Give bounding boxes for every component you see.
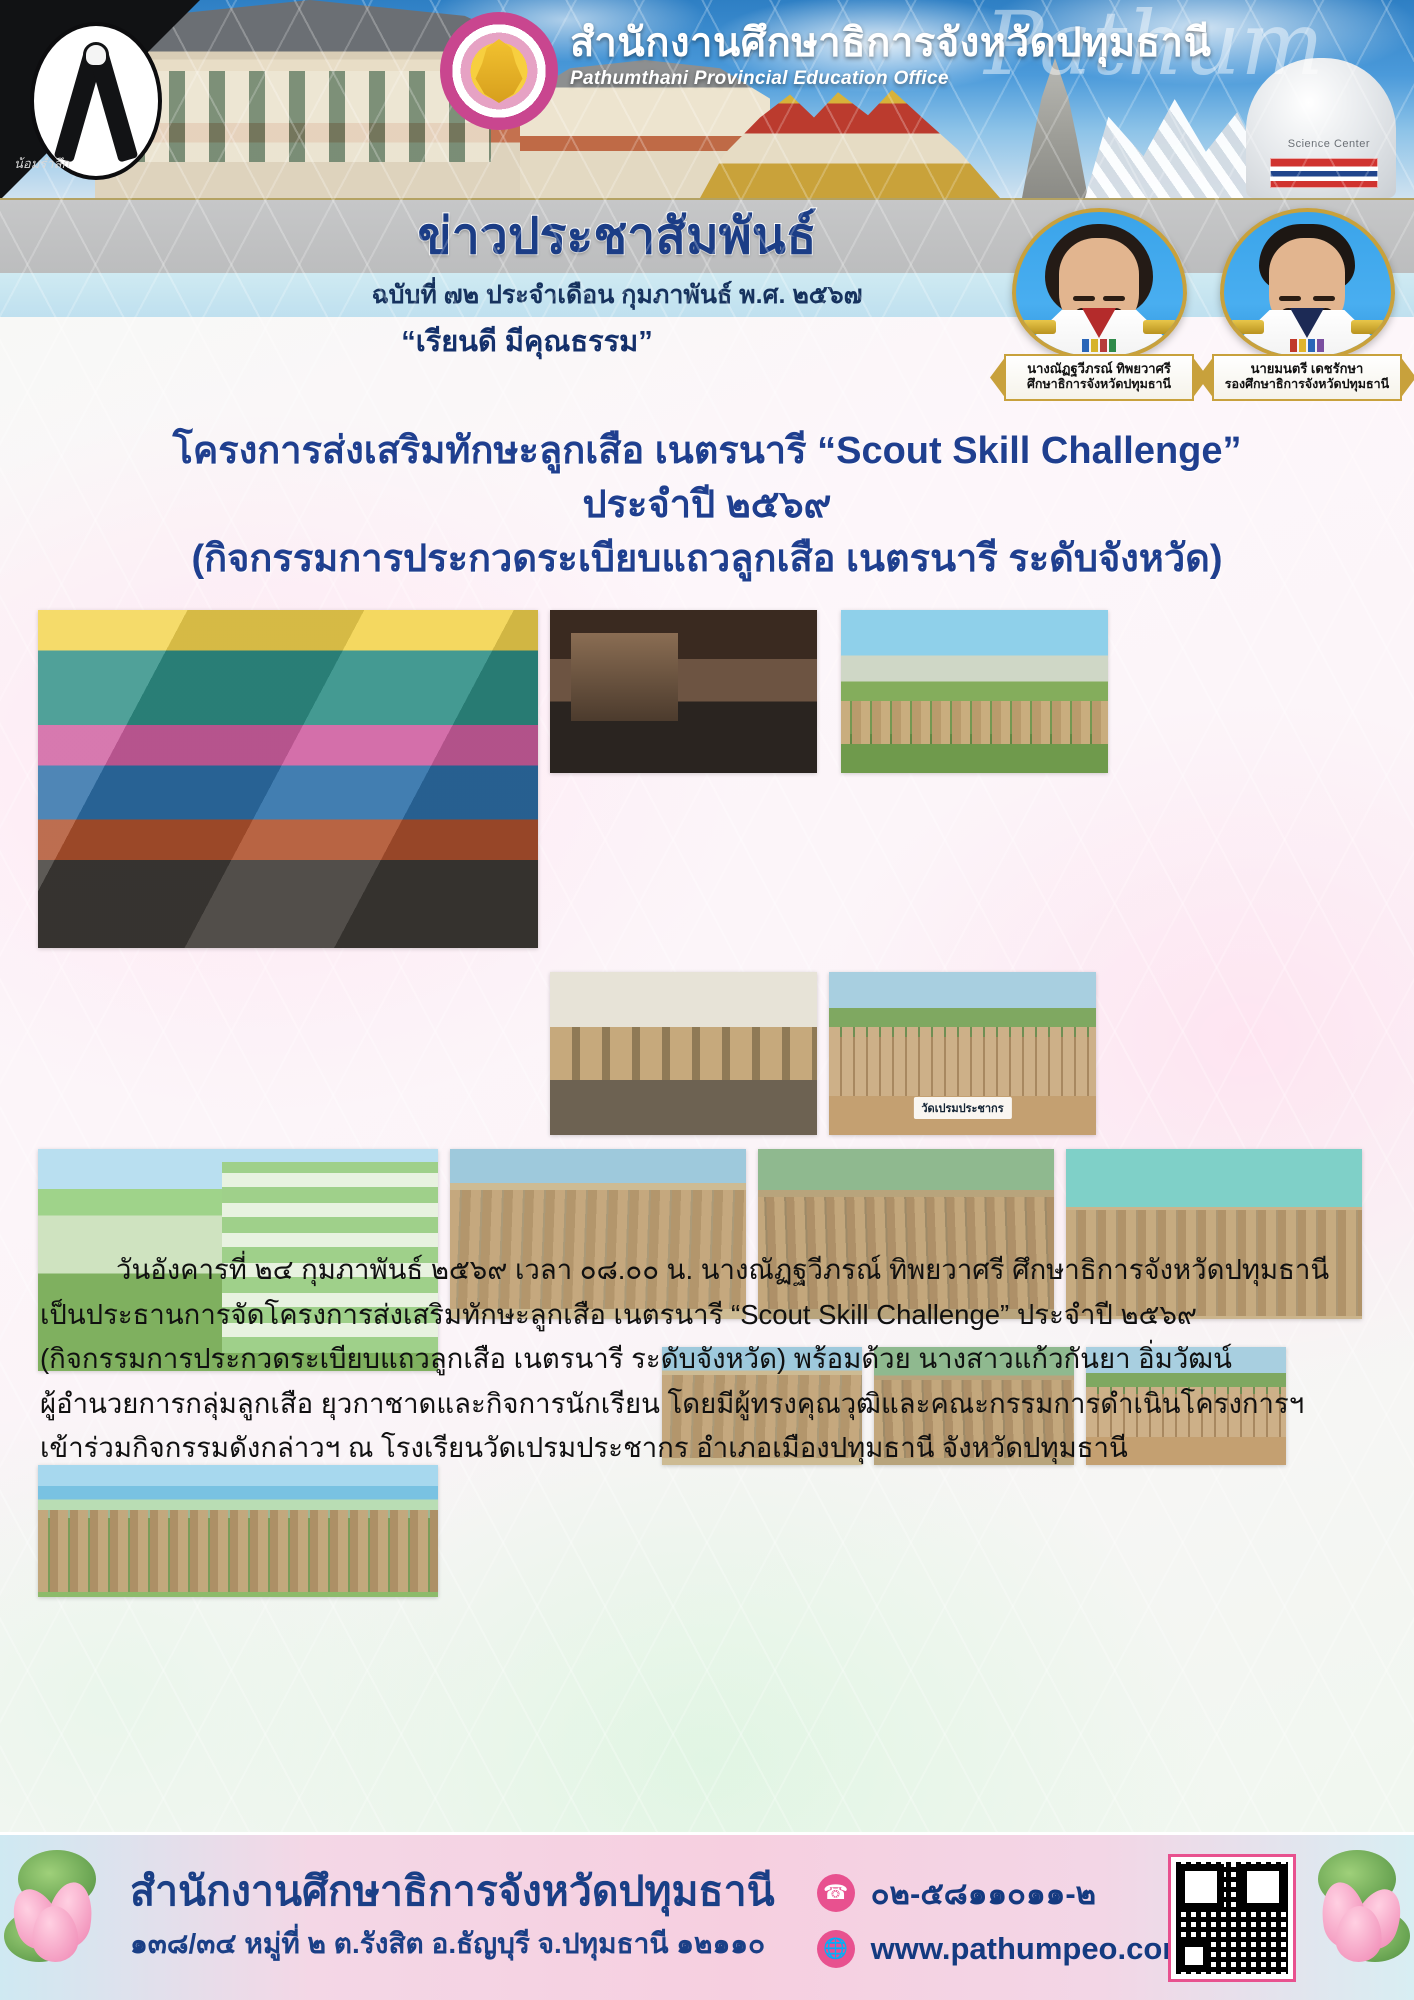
footer-org-name: สำนักงานศึกษาธิการจังหวัดปทุมธานี [130,1869,775,1915]
body-line-4: ผู้อำนวยการกลุ่มลูกเสือ ยุวกาชาดและกิจกา… [40,1382,1374,1427]
headline-line-2: ประจำปี ๒๕๖๙ [36,479,1378,533]
photo-field-green [38,1465,438,1597]
official-caption: นายมนตรี เดชรักษา รองศึกษาธิการจังหวัดปท… [1212,354,1402,401]
headline-line-1: โครงการส่งเสริมทักษะลูกเสือ เนตรนารี “Sc… [36,425,1378,479]
footer-website: www.pathumpeo.com [871,1931,1190,1967]
official-role: รองศึกษาธิการจังหวัดปทุมธานี [1220,377,1394,393]
photo-flag-bearers: วัดเปรมประชากร [829,972,1096,1135]
body-line-2: เป็นประธานการจัดโครงการส่งเสริมทักษะลูกเ… [40,1293,1374,1338]
org-title-group: สำนักงานศึกษาธิการจังหวัดปทุมธานี Pathum… [570,22,1211,90]
official-caption: นางณัฏฐวีภรณ์ ทิพยวาศรี ศึกษาธิการจังหวั… [1004,354,1194,401]
thai-flag-icon [1270,158,1378,188]
photo-office-desk [550,610,817,773]
body-line-5: เข้าร่วมกิจกรรมดังกล่าวฯ ณ โรงเรียนวัดเป… [40,1426,1374,1471]
photo-committee-table [550,972,817,1135]
lotus-decoration-left [0,1832,170,2000]
pr-title: ข่าวประชาสัมพันธ์ [418,197,817,276]
header-banner: Science Center Pathum สำนักงานศึกษาธิการ… [0,0,1414,198]
footer-address: ๑๓๘/๓๔ หมู่ที่ ๒ ต.รังสิต อ.ธัญบุรี จ.ปท… [130,1922,775,1966]
photo-stage-assembly [841,610,1108,773]
avatar [1220,208,1395,360]
photo-row-5 [38,1465,1376,1597]
official-card-director: นางณัฏฐวีภรณ์ ทิพยวาศรี ศึกษาธิการจังหวั… [1004,208,1194,401]
headline-line-3: (กิจกรรมการประกวดระเบียบแถวลูกเสือ เนตรน… [36,533,1378,587]
body-paragraph: วันอังคารที่ ๒๔ กุมภาพันธ์ ๒๕๖๙ เวลา ๐๘.… [0,1248,1414,1471]
body-line-3: (กิจกรรมการประกวดระเบียบแถวลูกเสือ เนตรน… [40,1337,1374,1382]
footer-contact-block: ☎ ๐๒-๕๘๑๑๐๑๑-๒ 🌐 www.pathumpeo.com [817,1856,1190,1980]
phone-icon: ☎ [817,1874,855,1912]
footer-website-row[interactable]: 🌐 www.pathumpeo.com [817,1930,1190,1968]
official-name: นางณัฏฐวีภรณ์ ทิพยวาศรี [1012,361,1186,377]
footer-phone: ๐๒-๕๘๑๑๐๑๑-๒ [871,1868,1096,1918]
headline-block: โครงการส่งเสริมทักษะลูกเสือ เนตรนารี “Sc… [0,425,1414,587]
official-card-deputy: นายมนตรี เดชรักษา รองศึกษาธิการจังหวัดปท… [1212,208,1402,401]
footer-phone-row[interactable]: ☎ ๐๒-๕๘๑๑๐๑๑-๒ [817,1868,1190,1918]
globe-icon: 🌐 [817,1930,855,1968]
official-role: ศึกษาธิการจังหวัดปทุมธานี [1012,377,1186,393]
body-line-1: วันอังคารที่ ๒๔ กุมภาพันธ์ ๒๕๖๙ เวลา ๐๘.… [40,1248,1374,1293]
footer-contact-bar: สำนักงานศึกษาธิการจังหวัดปทุมธานี ๑๓๘/๓๔… [0,1832,1414,2000]
lotus-decoration-right [1244,1832,1414,2000]
official-name: นายมนตรี เดชรักษา [1220,361,1394,377]
officials-group: นางณัฏฐวีภรณ์ ทิพยวาศรี ศึกษาธิการจังหวั… [1004,208,1402,401]
issue-line: ฉบับที่ ๗๒ ประจำเดือน กุมภาพันธ์ พ.ศ. ๒๕… [372,275,863,315]
poster-root: Science Center Pathum สำนักงานศึกษาธิการ… [0,0,1414,2000]
photo-caption: วัดเปรมประชากร [913,1097,1011,1119]
seal-emblem-icon [471,39,527,103]
black-ribbon-icon [59,38,133,164]
org-name-english: Pathumthani Provincial Education Office [570,68,1211,90]
photo-speaker-podium [38,610,538,948]
mourning-caption: น้อมรำลึก [14,153,69,174]
org-name-thai: สำนักงานศึกษาธิการจังหวัดปทุมธานี [570,22,1211,64]
dome-label: Science Center [1288,138,1370,150]
avatar [1012,208,1187,360]
footer-org-block: สำนักงานศึกษาธิการจังหวัดปทุมธานี ๑๓๘/๓๔… [130,1869,775,1967]
ministry-seal-icon [440,12,558,130]
photo-row-2: วัดเปรมประชากร [550,797,1376,1135]
